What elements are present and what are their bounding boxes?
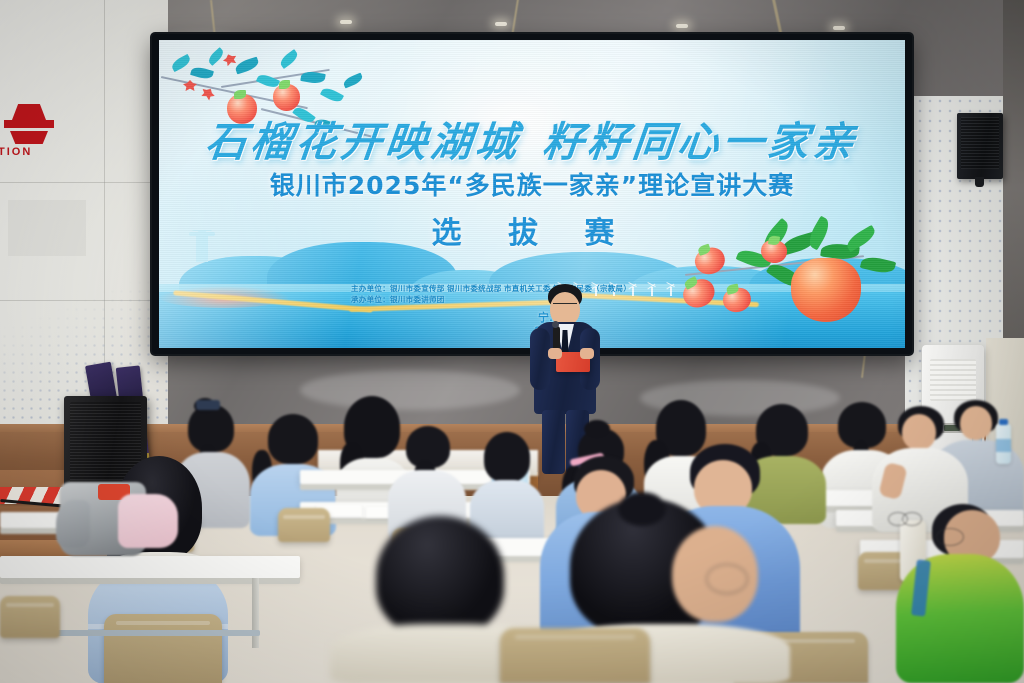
led-headline-right: 籽籽同心一家亲 (540, 118, 860, 166)
wall-speaker (957, 113, 1003, 179)
ceiling-light-icon (495, 22, 507, 26)
screenshot-root: TION (0, 0, 1024, 683)
ceiling-light-icon (676, 24, 688, 28)
wall-logo-text: TION (0, 146, 32, 158)
wall-logo-icon: TION (4, 104, 62, 160)
ceiling-light-icon (340, 20, 352, 24)
eyeglasses (706, 564, 748, 594)
presenter-glasses-icon (553, 303, 577, 309)
led-round-label: 选 拔 赛 (159, 208, 905, 252)
led-headline: 石榴花开映湖城籽籽同心一家亲 (159, 108, 905, 168)
backpack-strap (56, 500, 90, 548)
led-headline-left: 石榴花开映湖城 (203, 118, 523, 166)
water-bottle (996, 424, 1011, 464)
presenter-arm-left (530, 328, 550, 390)
led-subtitle: 银川市2025年“多民族一家亲”理论宣讲大赛 (159, 166, 905, 202)
pink-jacket (118, 494, 178, 548)
audience-member (896, 504, 1024, 683)
chair (278, 508, 330, 542)
table-leg (252, 578, 259, 648)
chair (104, 614, 222, 683)
table-bar (40, 630, 260, 636)
ceiling-light-icon (833, 26, 845, 30)
table (0, 556, 300, 578)
chair (500, 628, 650, 683)
left-acoustic-panel (0, 0, 168, 440)
chair (0, 596, 60, 638)
